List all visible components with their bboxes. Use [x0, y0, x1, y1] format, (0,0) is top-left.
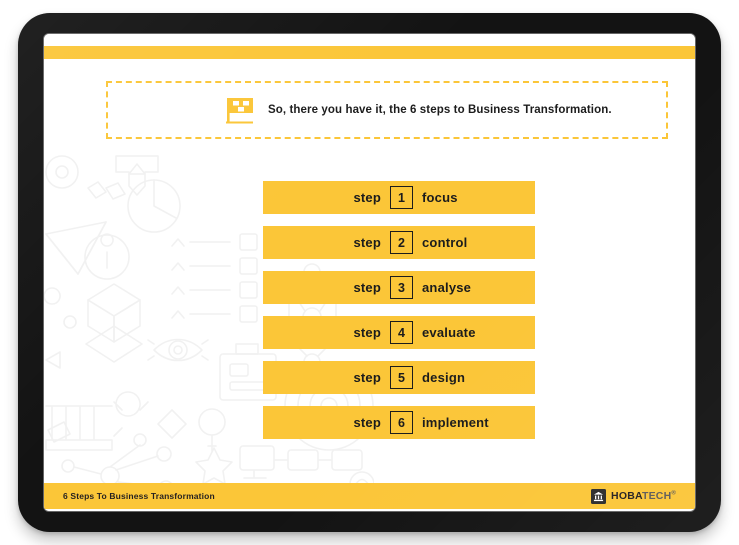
step-row[interactable]: step 5 design — [263, 361, 535, 394]
logo-light-part: TECH — [642, 490, 671, 502]
presentation-slide: So, there you have it, the 6 steps to Bu… — [44, 34, 695, 511]
step-word: step — [353, 190, 381, 205]
step-number-box: 3 — [390, 276, 413, 299]
step-word: step — [353, 370, 381, 385]
step-label: evaluate — [422, 325, 535, 340]
step-label: implement — [422, 415, 535, 430]
step-word: step — [353, 415, 381, 430]
step-word: step — [353, 325, 381, 340]
step-word: step — [353, 280, 381, 295]
step-number-box: 6 — [390, 411, 413, 434]
checkered-flag-icon — [224, 96, 256, 124]
step-label: design — [422, 370, 535, 385]
step-row[interactable]: step 3 analyse — [263, 271, 535, 304]
step-label: focus — [422, 190, 535, 205]
slide-footer: 6 Steps To Business Transformation HOBAT… — [44, 483, 695, 509]
hobatech-logo: HOBATECH® — [591, 489, 676, 504]
step-number-box: 2 — [390, 231, 413, 254]
step-label: control — [422, 235, 535, 250]
step-row[interactable]: step 4 evaluate — [263, 316, 535, 349]
step-row[interactable]: step 6 implement — [263, 406, 535, 439]
logo-trademark: ® — [671, 491, 676, 497]
headline-callout: So, there you have it, the 6 steps to Bu… — [106, 81, 668, 139]
step-number-box: 5 — [390, 366, 413, 389]
steps-list: step 1 focus step 2 control step 3 analy… — [263, 181, 535, 439]
headline-text: So, there you have it, the 6 steps to Bu… — [268, 104, 612, 116]
step-number-box: 1 — [390, 186, 413, 209]
logo-wordmark: HOBATECH® — [611, 490, 676, 502]
logo-bold-part: HOBA — [611, 490, 642, 502]
tablet-device: So, there you have it, the 6 steps to Bu… — [18, 13, 721, 532]
slide-top-accent-bar — [44, 46, 695, 59]
step-row[interactable]: step 1 focus — [263, 181, 535, 214]
step-word: step — [353, 235, 381, 250]
tablet-screen: So, there you have it, the 6 steps to Bu… — [44, 34, 695, 511]
building-icon — [591, 489, 606, 504]
footer-title: 6 Steps To Business Transformation — [63, 491, 215, 501]
step-label: analyse — [422, 280, 535, 295]
step-number-box: 4 — [390, 321, 413, 344]
step-row[interactable]: step 2 control — [263, 226, 535, 259]
